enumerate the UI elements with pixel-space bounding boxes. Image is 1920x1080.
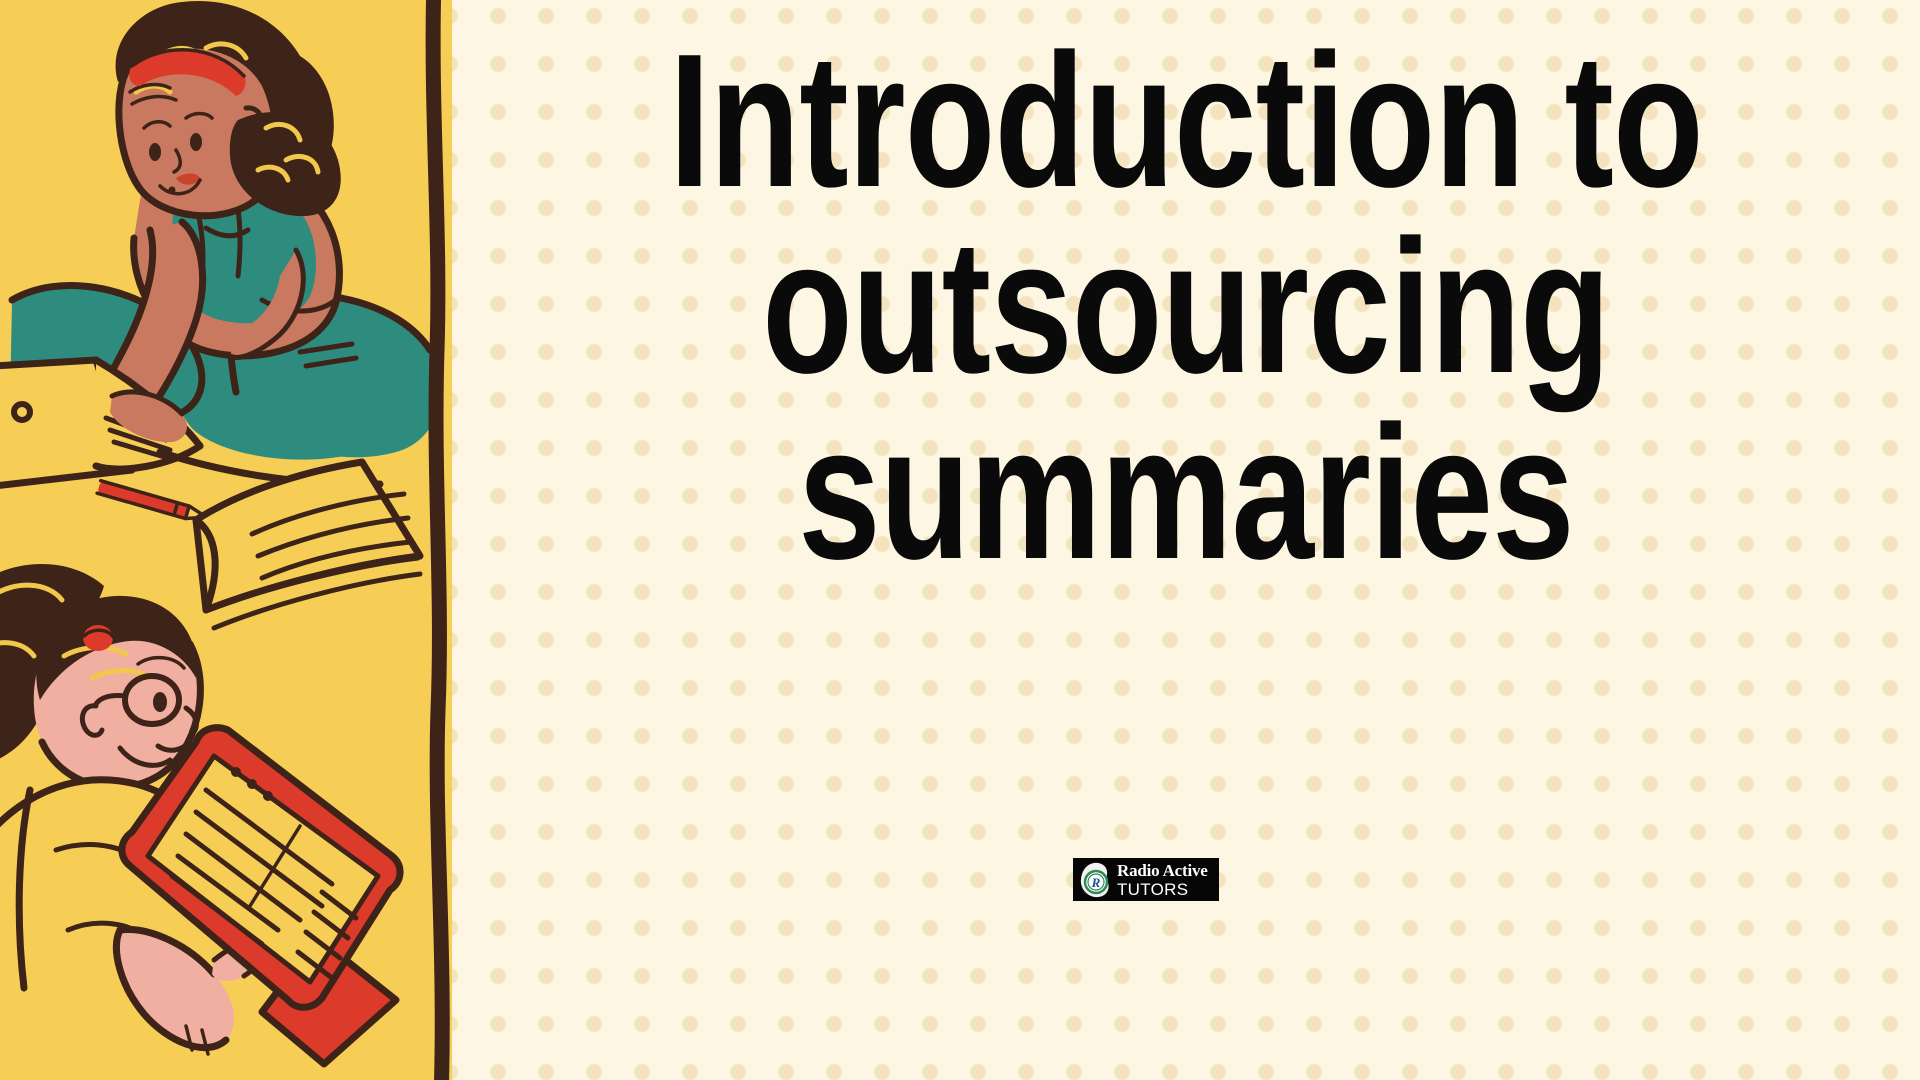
title-area: Introduction to outsourcing summaries [452, 0, 1920, 1080]
slide-canvas: .ln { fill:none; stroke:#3D2318; stroke-… [0, 0, 1920, 1080]
brand-name-primary: Radio Active [1117, 862, 1208, 879]
brand-logo-text: Radio Active TUTORS [1117, 862, 1208, 898]
svg-text:R: R [1091, 875, 1101, 890]
illustration-artwork: .ln { fill:none; stroke:#3D2318; stroke-… [0, 0, 452, 1080]
page-title: Introduction to outsourcing summaries [523, 28, 1849, 587]
radio-active-seal-icon: R [1076, 860, 1116, 900]
illustration-panel: .ln { fill:none; stroke:#3D2318; stroke-… [0, 0, 452, 1080]
brand-name-secondary: TUTORS [1117, 881, 1208, 898]
brand-logo: R Radio Active TUTORS [1073, 858, 1219, 901]
